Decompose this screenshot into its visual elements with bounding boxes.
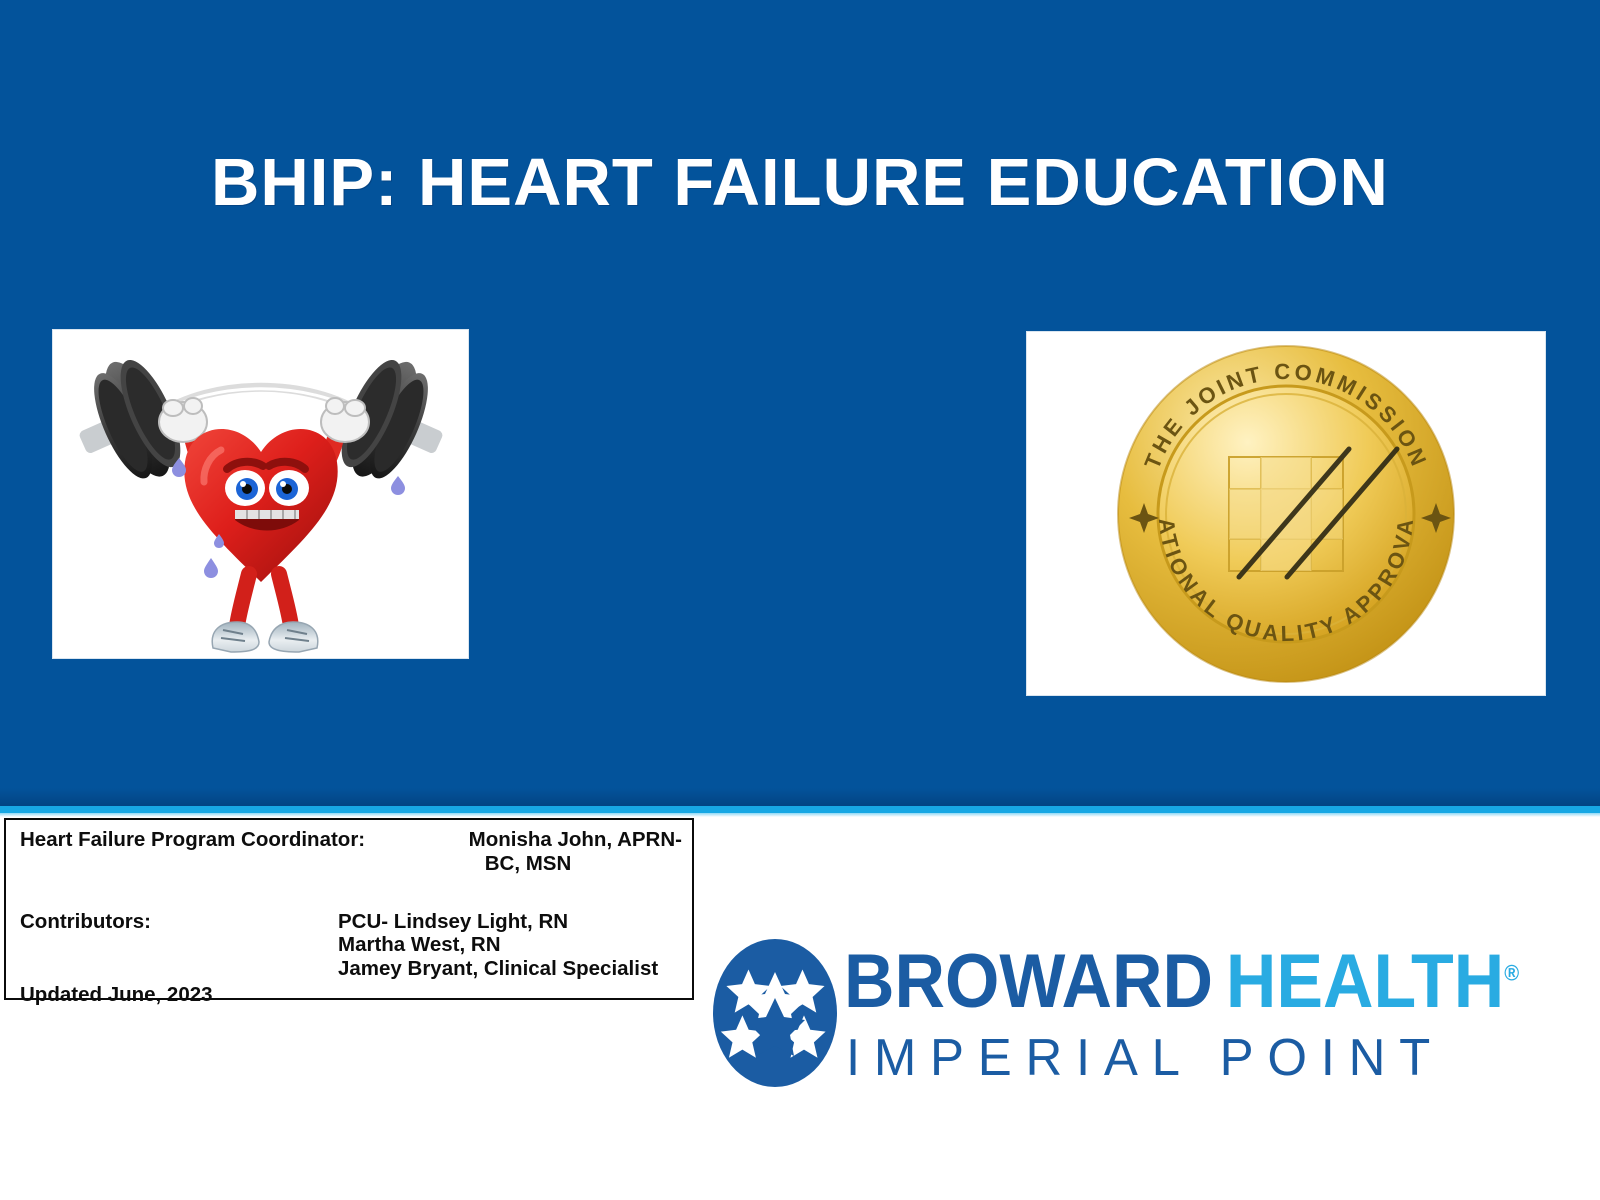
contributors-row: Contributors: PCU- Lindsey Light, RN Mar… (20, 910, 682, 981)
contributor-item: Jamey Bryant, Clinical Specialist (338, 957, 682, 981)
word-broward: BROWARD (844, 939, 1213, 1024)
coordinator-name-line1: Monisha John, APRN- (469, 828, 682, 851)
updated-date: Updated June, 2023 (20, 983, 682, 1007)
word-health: HEALTH (1226, 939, 1504, 1024)
contributor-item: PCU- Lindsey Light, RN (338, 910, 682, 934)
panel-bottom-shadow (0, 788, 1600, 806)
coordinator-name: Monisha John, APRN- BC, MSN (408, 828, 682, 876)
contributor-item: Martha West, RN (338, 933, 682, 957)
joint-commission-seal-image: THE JOINT COMMISSION NATIONAL QUALITY AP… (1027, 332, 1545, 695)
contributors-list: PCU- Lindsey Light, RN Martha West, RN J… (338, 910, 682, 981)
accent-stripe-fade (0, 813, 1600, 817)
credits-text-box: Heart Failure Program Coordinator: Monis… (4, 818, 694, 1000)
broward-star-burst-icon (712, 938, 838, 1088)
coordinator-row: Heart Failure Program Coordinator: Monis… (20, 828, 682, 876)
accent-stripe (0, 806, 1600, 813)
heart-mascot-image (53, 330, 468, 658)
wordmark-top-line: BROWARDHEALTH® (844, 944, 1519, 1020)
gold-seal-icon: THE JOINT COMMISSION NATIONAL QUALITY AP… (1111, 339, 1461, 689)
cartoon-heart-barbell-icon (53, 330, 468, 658)
contributors-label: Contributors: (20, 910, 338, 934)
broward-health-logo: BROWARDHEALTH® IMPERIAL POINT (712, 932, 1512, 1092)
coordinator-name-line2: BC, MSN (408, 852, 682, 876)
broward-health-wordmark: BROWARDHEALTH® IMPERIAL POINT (844, 932, 1512, 1092)
coordinator-label: Heart Failure Program Coordinator: (20, 828, 408, 852)
registered-trademark-icon: ® (1504, 961, 1519, 986)
word-imperial-point: IMPERIAL POINT (846, 1028, 1444, 1088)
page-title: BHIP: HEART FAILURE EDUCATION (0, 148, 1600, 218)
slide-canvas: BHIP: HEART FAILURE EDUCATION (0, 0, 1600, 1200)
